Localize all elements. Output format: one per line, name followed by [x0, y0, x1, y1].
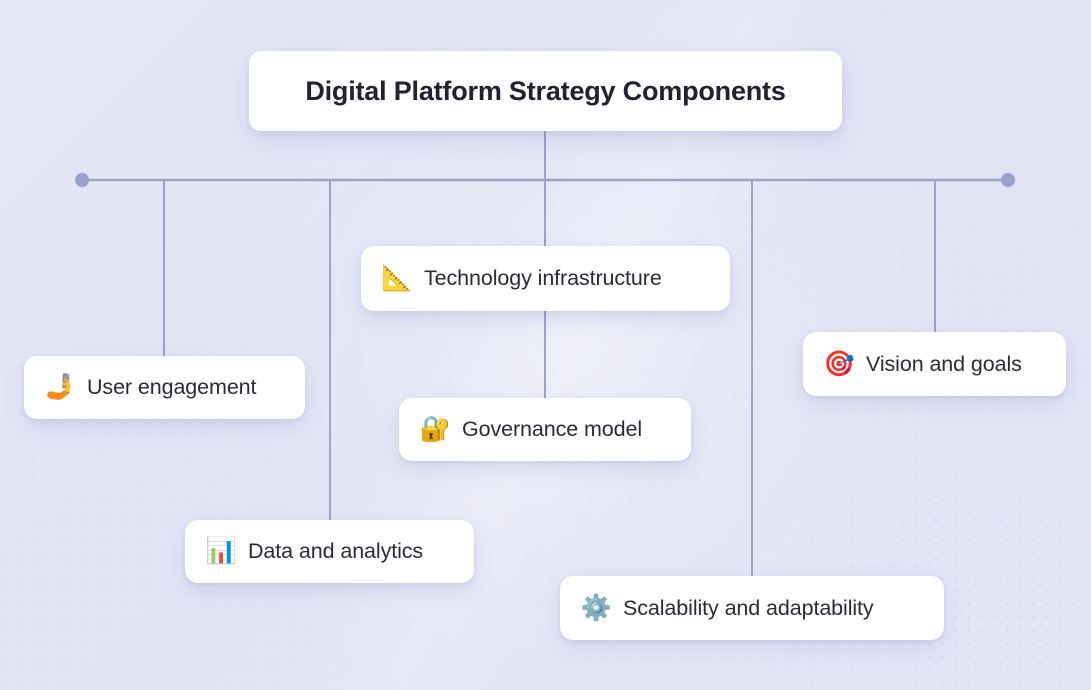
selfie-phone-icon: 🤳 [46, 374, 74, 402]
diagram-title-card: Digital Platform Strategy Components [249, 51, 842, 131]
node-card-scalability-and-adaptability[interactable]: ⚙️ Scalability and adaptability [560, 576, 944, 640]
node-label: Vision and goals [866, 352, 1022, 377]
page-title: Digital Platform Strategy Components [305, 76, 785, 107]
node-label: Data and analytics [248, 539, 423, 564]
node-label: Scalability and adaptability [623, 596, 874, 621]
node-card-technology-infrastructure[interactable]: 📐 Technology infrastructure [361, 246, 730, 311]
node-card-user-engagement[interactable]: 🤳 User engagement [24, 356, 305, 419]
locked-with-key-icon: 🔐 [421, 416, 449, 444]
triangular-ruler-icon: 📐 [383, 265, 411, 293]
node-label: Governance model [462, 417, 642, 442]
node-label: User engagement [87, 375, 256, 400]
bar-chart-icon: 📊 [207, 538, 235, 566]
diagram-canvas: Digital Platform Strategy Components 🤳 U… [0, 0, 1091, 690]
node-label: Technology infrastructure [424, 266, 662, 291]
dart-target-icon: 🎯 [825, 350, 853, 378]
spine-right-dot [1001, 173, 1015, 187]
node-card-governance-model[interactable]: 🔐 Governance model [399, 398, 691, 461]
gear-icon: ⚙️ [582, 594, 610, 622]
node-card-vision-and-goals[interactable]: 🎯 Vision and goals [803, 332, 1066, 396]
node-card-data-and-analytics[interactable]: 📊 Data and analytics [185, 520, 474, 583]
spine-left-dot [75, 173, 89, 187]
